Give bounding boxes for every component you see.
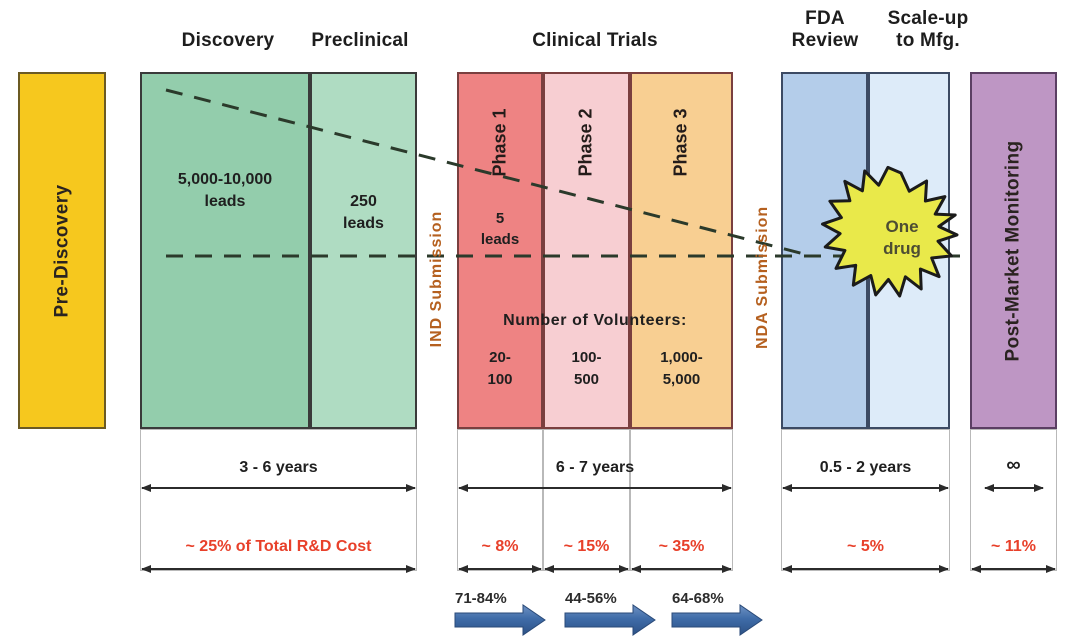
success-rate-label-phase-2: 44-56% xyxy=(565,590,661,607)
success-arrow-phase-3 xyxy=(672,605,762,635)
success-arrow-phase-1 xyxy=(455,605,545,635)
success-rate-label-phase-3: 64-68% xyxy=(672,590,768,607)
success-rate-label-phase-1: 71-84% xyxy=(455,590,551,607)
success-arrow-phase-2 xyxy=(565,605,655,635)
success-rate-arrows xyxy=(0,0,1080,643)
